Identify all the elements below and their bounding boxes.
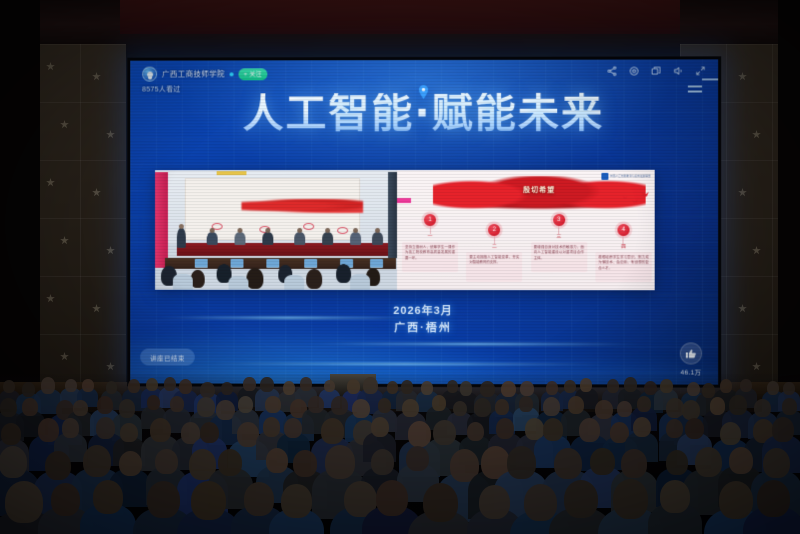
audience-member-head	[266, 448, 288, 473]
star-decoration-icon	[752, 362, 761, 371]
audience-member-head	[554, 448, 582, 479]
thumbs-up-icon[interactable]	[680, 342, 702, 364]
audience-member-head	[283, 381, 295, 395]
ribbon-banner: 殷切希望	[433, 176, 646, 210]
audience-member-head	[763, 448, 790, 479]
ribbon-label: 殷切希望	[433, 185, 646, 195]
audience-member-head	[238, 396, 253, 413]
pillar-text: 要主动拥抱人工智能变革，夯实对智能教育的支撑。	[466, 252, 522, 282]
slide-title-area: 人工智能·赋能未来	[130, 92, 718, 134]
audience-member-head	[243, 377, 255, 391]
star-decoration-icon	[106, 362, 115, 371]
audience-member-head	[543, 418, 563, 440]
photo-audience-head	[191, 270, 205, 288]
audience-member-head	[729, 395, 746, 414]
audience-member-head	[265, 396, 280, 413]
like-control[interactable]: 46.1万	[680, 342, 702, 377]
audience-member-head	[740, 379, 751, 392]
star-decoration-icon	[60, 236, 69, 245]
audience-member-head	[263, 417, 280, 436]
audience-member-head	[325, 445, 355, 478]
pillar-text: 要增强自身对技术的敏感力，面向人工智能建设以对重项目合作主体。	[531, 242, 587, 272]
audience-member-head	[260, 377, 273, 392]
audience-member-head	[97, 396, 113, 414]
audience-member-head	[520, 381, 533, 396]
audience-member-head	[244, 482, 274, 516]
audience-member-head	[702, 383, 715, 398]
audience-member-head	[543, 397, 560, 416]
photo-person	[350, 232, 361, 245]
audience-member-head	[633, 417, 651, 437]
pillar-item: 2二要主动拥抱人工智能变革，夯实对智能教育的支撑。	[467, 224, 521, 282]
audience-member-head	[720, 379, 733, 394]
pillar-item: 3三要增强自身对技术的敏感力，面向人工智能建设以对重项目合作主体。	[532, 214, 586, 282]
audience-member-head	[754, 399, 770, 417]
star-decoration-icon	[92, 304, 101, 313]
audience-member-head	[150, 418, 171, 442]
audience-member-head	[147, 395, 161, 410]
pillar-list: 1一坚持立德树人，统筹学生一课作为技工院校教育高质量发展的重要一环。2二要主动拥…	[403, 214, 651, 282]
audience-member-head	[406, 446, 429, 471]
audience-member-head	[22, 398, 38, 416]
audience-member-head	[568, 396, 584, 414]
event-city: 广西·梧州	[130, 319, 718, 336]
audience-member-head	[62, 418, 80, 438]
slide-card: 中国人工智能教育与应用发展联盟 殷切希望 1一坚持立德树人，统筹学生一课作为技工…	[155, 170, 655, 290]
audience-member-head	[22, 382, 36, 397]
location-pin-icon	[418, 85, 429, 99]
audience-member-head	[666, 450, 689, 476]
audience-member-head	[519, 396, 533, 412]
audience-member-head	[447, 380, 458, 393]
audience-member-head	[120, 423, 138, 443]
audience-member-head	[772, 417, 794, 442]
audience-member-head	[613, 479, 648, 519]
audience-member-head	[363, 377, 378, 394]
star-decoration-icon	[738, 304, 747, 313]
audience-member-head	[767, 381, 779, 395]
pillar-text: 坚持立德树人，统筹学生一课作为技工院校教育高质量发展的重要一环。	[402, 242, 458, 272]
audience-member-head	[666, 419, 683, 438]
audience-member-head	[695, 447, 722, 477]
audience-member-head	[617, 401, 631, 417]
star-decoration-icon	[46, 178, 55, 187]
status-badge: 讲座已结束	[140, 349, 195, 366]
photo-person	[238, 228, 243, 233]
live-dot-icon	[230, 72, 234, 76]
auditorium-scene: 广西工商技师学院 + 关注	[0, 0, 800, 534]
photo-person	[350, 274, 370, 290]
event-date: 2026年3月	[130, 302, 718, 319]
audience-member-head	[524, 484, 557, 521]
star-decoration-icon	[92, 72, 101, 81]
audience-member-head	[371, 417, 389, 437]
audience-member-head	[300, 377, 312, 390]
audience-member-head	[5, 481, 42, 523]
audience-member-head	[660, 379, 673, 393]
audience-member-head	[402, 399, 418, 417]
star-decoration-icon	[752, 246, 761, 255]
audience-member-head	[293, 450, 317, 476]
pillar-item: 4四着眼培养学生学习意识，努力成为懂技术、会应用、有创想的复合人才。	[596, 224, 650, 282]
audience-member-head	[155, 449, 177, 474]
photo-person	[210, 228, 215, 233]
wall-panel-left	[34, 44, 126, 394]
audience-member-head	[432, 395, 446, 411]
audience-member-head	[93, 480, 123, 514]
photo-person	[375, 228, 380, 233]
wall-shadow-left	[0, 0, 40, 400]
photo-person	[297, 228, 302, 233]
star-decoration-icon	[46, 294, 55, 303]
audience-member-head	[96, 417, 116, 439]
star-decoration-icon	[738, 72, 747, 81]
audience-member-head	[637, 396, 651, 412]
audience-member-head	[546, 381, 558, 395]
audience-member-head	[73, 400, 87, 416]
audience-member-head	[423, 483, 458, 522]
audience-member-head	[308, 396, 323, 413]
audience-member-head	[621, 449, 646, 477]
photo-laptop	[195, 259, 208, 267]
photo-laptop	[304, 259, 317, 267]
photo-person	[207, 232, 218, 245]
audience-member-head	[453, 401, 467, 417]
audience-member-head	[590, 448, 614, 475]
gear-icon[interactable]	[629, 66, 640, 77]
audience-member-head	[45, 451, 71, 480]
audience-member-head	[685, 418, 704, 439]
photo-person	[325, 228, 330, 233]
audience-member-head	[710, 397, 726, 415]
audience-member-head	[83, 445, 111, 476]
player-tools	[606, 65, 706, 76]
screenshot-icon[interactable]	[651, 65, 662, 76]
photo-laptop	[266, 259, 279, 267]
audience-member-head	[421, 381, 433, 395]
photo-laptop	[231, 259, 244, 267]
star-decoration-icon	[60, 352, 69, 361]
audience-member-head	[170, 396, 185, 413]
audience-member-head	[460, 381, 473, 395]
pillar-number: 2	[488, 224, 500, 236]
audience-member-head	[507, 446, 536, 479]
audience-member-head	[687, 382, 700, 397]
audience-member-head	[1, 423, 21, 445]
audience-member-head	[467, 422, 484, 441]
photo-person	[262, 232, 273, 245]
audience-member-head	[281, 484, 311, 518]
audience-member-head	[729, 447, 753, 474]
audience-member-head	[433, 420, 455, 445]
star-decoration-icon	[106, 246, 115, 255]
photo-person	[173, 274, 193, 290]
star-decoration-icon	[752, 130, 761, 139]
pillar-number: 4	[617, 224, 629, 236]
pillar-cn-number: 四	[621, 243, 626, 250]
audience-member-head	[146, 378, 158, 392]
audience-member-head	[401, 380, 413, 394]
pillar-cn-number: 一	[427, 233, 432, 240]
audience-member-head	[331, 396, 348, 415]
photo-audience-head	[246, 268, 263, 289]
audience-member-head	[376, 480, 408, 516]
photo-person	[294, 232, 305, 245]
date-location: 2026年3月 广西·梧州	[130, 302, 718, 336]
audience-member-head	[119, 399, 136, 418]
pillar-text: 着眼培养学生学习意识，努力成为懂技术、会应用、有创想的复合人才。	[595, 252, 651, 282]
photo-laptop	[370, 259, 383, 267]
audience-member-head	[580, 378, 593, 392]
pillar-number: 1	[424, 214, 436, 226]
audience-member-head	[352, 399, 370, 419]
audience-member-head	[128, 379, 141, 393]
player-topbar: 广西工商技师学院 + 关注	[130, 59, 718, 86]
photo-person	[372, 232, 383, 245]
audience-member-head	[147, 481, 180, 518]
photo-person	[322, 232, 333, 245]
audience-member-head	[347, 379, 360, 394]
conference-photo	[155, 170, 397, 290]
audience-member-head	[495, 399, 509, 415]
channel-info[interactable]: 广西工商技师学院 + 关注	[142, 66, 267, 81]
audience-member-head	[782, 398, 797, 414]
audience-member-head	[660, 480, 689, 513]
audience-member-head	[480, 381, 494, 397]
audience	[0, 374, 800, 534]
audience-member-head	[0, 398, 17, 417]
channel-name: 广西工商技师学院	[162, 68, 225, 79]
audience-member-head	[501, 381, 516, 397]
audience-member-head	[607, 379, 619, 392]
star-decoration-icon	[60, 120, 69, 129]
audience-member-head	[378, 398, 392, 414]
audience-member-head	[579, 418, 601, 442]
audience-member-head	[324, 380, 336, 393]
pillar-cn-number: 三	[556, 233, 561, 240]
audience-member-head	[51, 483, 81, 516]
audience-member-head	[371, 449, 394, 475]
audience-member-head	[624, 377, 637, 391]
audience-member-head	[179, 379, 192, 394]
audience-member-head	[719, 481, 753, 519]
audience-member-head	[82, 379, 93, 392]
audience-member-head	[783, 382, 794, 395]
pillar-item: 1一坚持立德树人，统筹学生一课作为技工院校教育高质量发展的重要一环。	[403, 214, 457, 282]
audience-member-head	[0, 446, 27, 478]
audience-member-head	[479, 485, 510, 519]
photo-audience-head	[336, 264, 351, 283]
view-count: 8575人看过	[142, 84, 180, 94]
slide-panel: 中国人工智能教育与应用发展联盟 殷切希望 1一坚持立德树人，统筹学生一课作为技工…	[397, 170, 655, 290]
avatar	[142, 67, 157, 82]
audience-member-head	[564, 480, 598, 518]
audience-member-head	[387, 381, 398, 394]
photo-person	[235, 232, 246, 245]
pillar-number: 3	[553, 214, 565, 226]
live-stream-player[interactable]: 广西工商技师学院 + 关注	[130, 59, 718, 384]
fullscreen-icon[interactable]	[695, 65, 706, 76]
audience-member-head	[321, 418, 344, 444]
audience-member-head	[284, 418, 302, 438]
audience-member-head	[65, 379, 77, 392]
star-decoration-icon	[106, 130, 115, 139]
audience-member-head	[119, 451, 142, 476]
audience-member-head	[474, 398, 491, 417]
audience-member-head	[221, 382, 233, 395]
audience-member-head	[3, 380, 15, 393]
audience-member-head	[218, 449, 242, 476]
audience-member-head	[720, 422, 741, 446]
audience-member-head	[200, 382, 215, 398]
star-decoration-icon	[46, 62, 55, 71]
audience-member-head	[564, 380, 576, 393]
follow-button[interactable]: + 关注	[239, 68, 267, 80]
photo-person	[177, 228, 186, 248]
audience-member-head	[41, 377, 56, 393]
audience-member-head	[682, 400, 700, 420]
audience-member-head	[197, 397, 215, 417]
accent-bar	[397, 198, 411, 203]
audience-member-head	[757, 480, 790, 517]
audience-member-head	[191, 481, 226, 520]
volume-icon[interactable]	[673, 65, 684, 76]
star-decoration-icon	[92, 188, 101, 197]
photo-audience-head	[306, 269, 322, 289]
audience-member-head	[106, 381, 118, 394]
audience-member-head	[595, 400, 612, 420]
photo-person	[229, 276, 249, 290]
audience-member-head	[496, 418, 515, 439]
photo-person	[179, 224, 184, 229]
wall-shadow-right	[778, 0, 800, 400]
audience-member-head	[164, 377, 176, 391]
star-decoration-icon	[738, 188, 747, 197]
photo-person	[265, 228, 270, 233]
led-screen: 广西工商技师学院 + 关注	[127, 56, 721, 387]
share-icon[interactable]	[606, 66, 617, 77]
photo-person	[353, 228, 358, 233]
wall-stars-left	[34, 44, 126, 394]
audience-member-head	[200, 422, 219, 443]
stage-curtain	[120, 0, 680, 34]
pillar-cn-number: 二	[492, 243, 497, 250]
photo-person	[284, 275, 304, 290]
